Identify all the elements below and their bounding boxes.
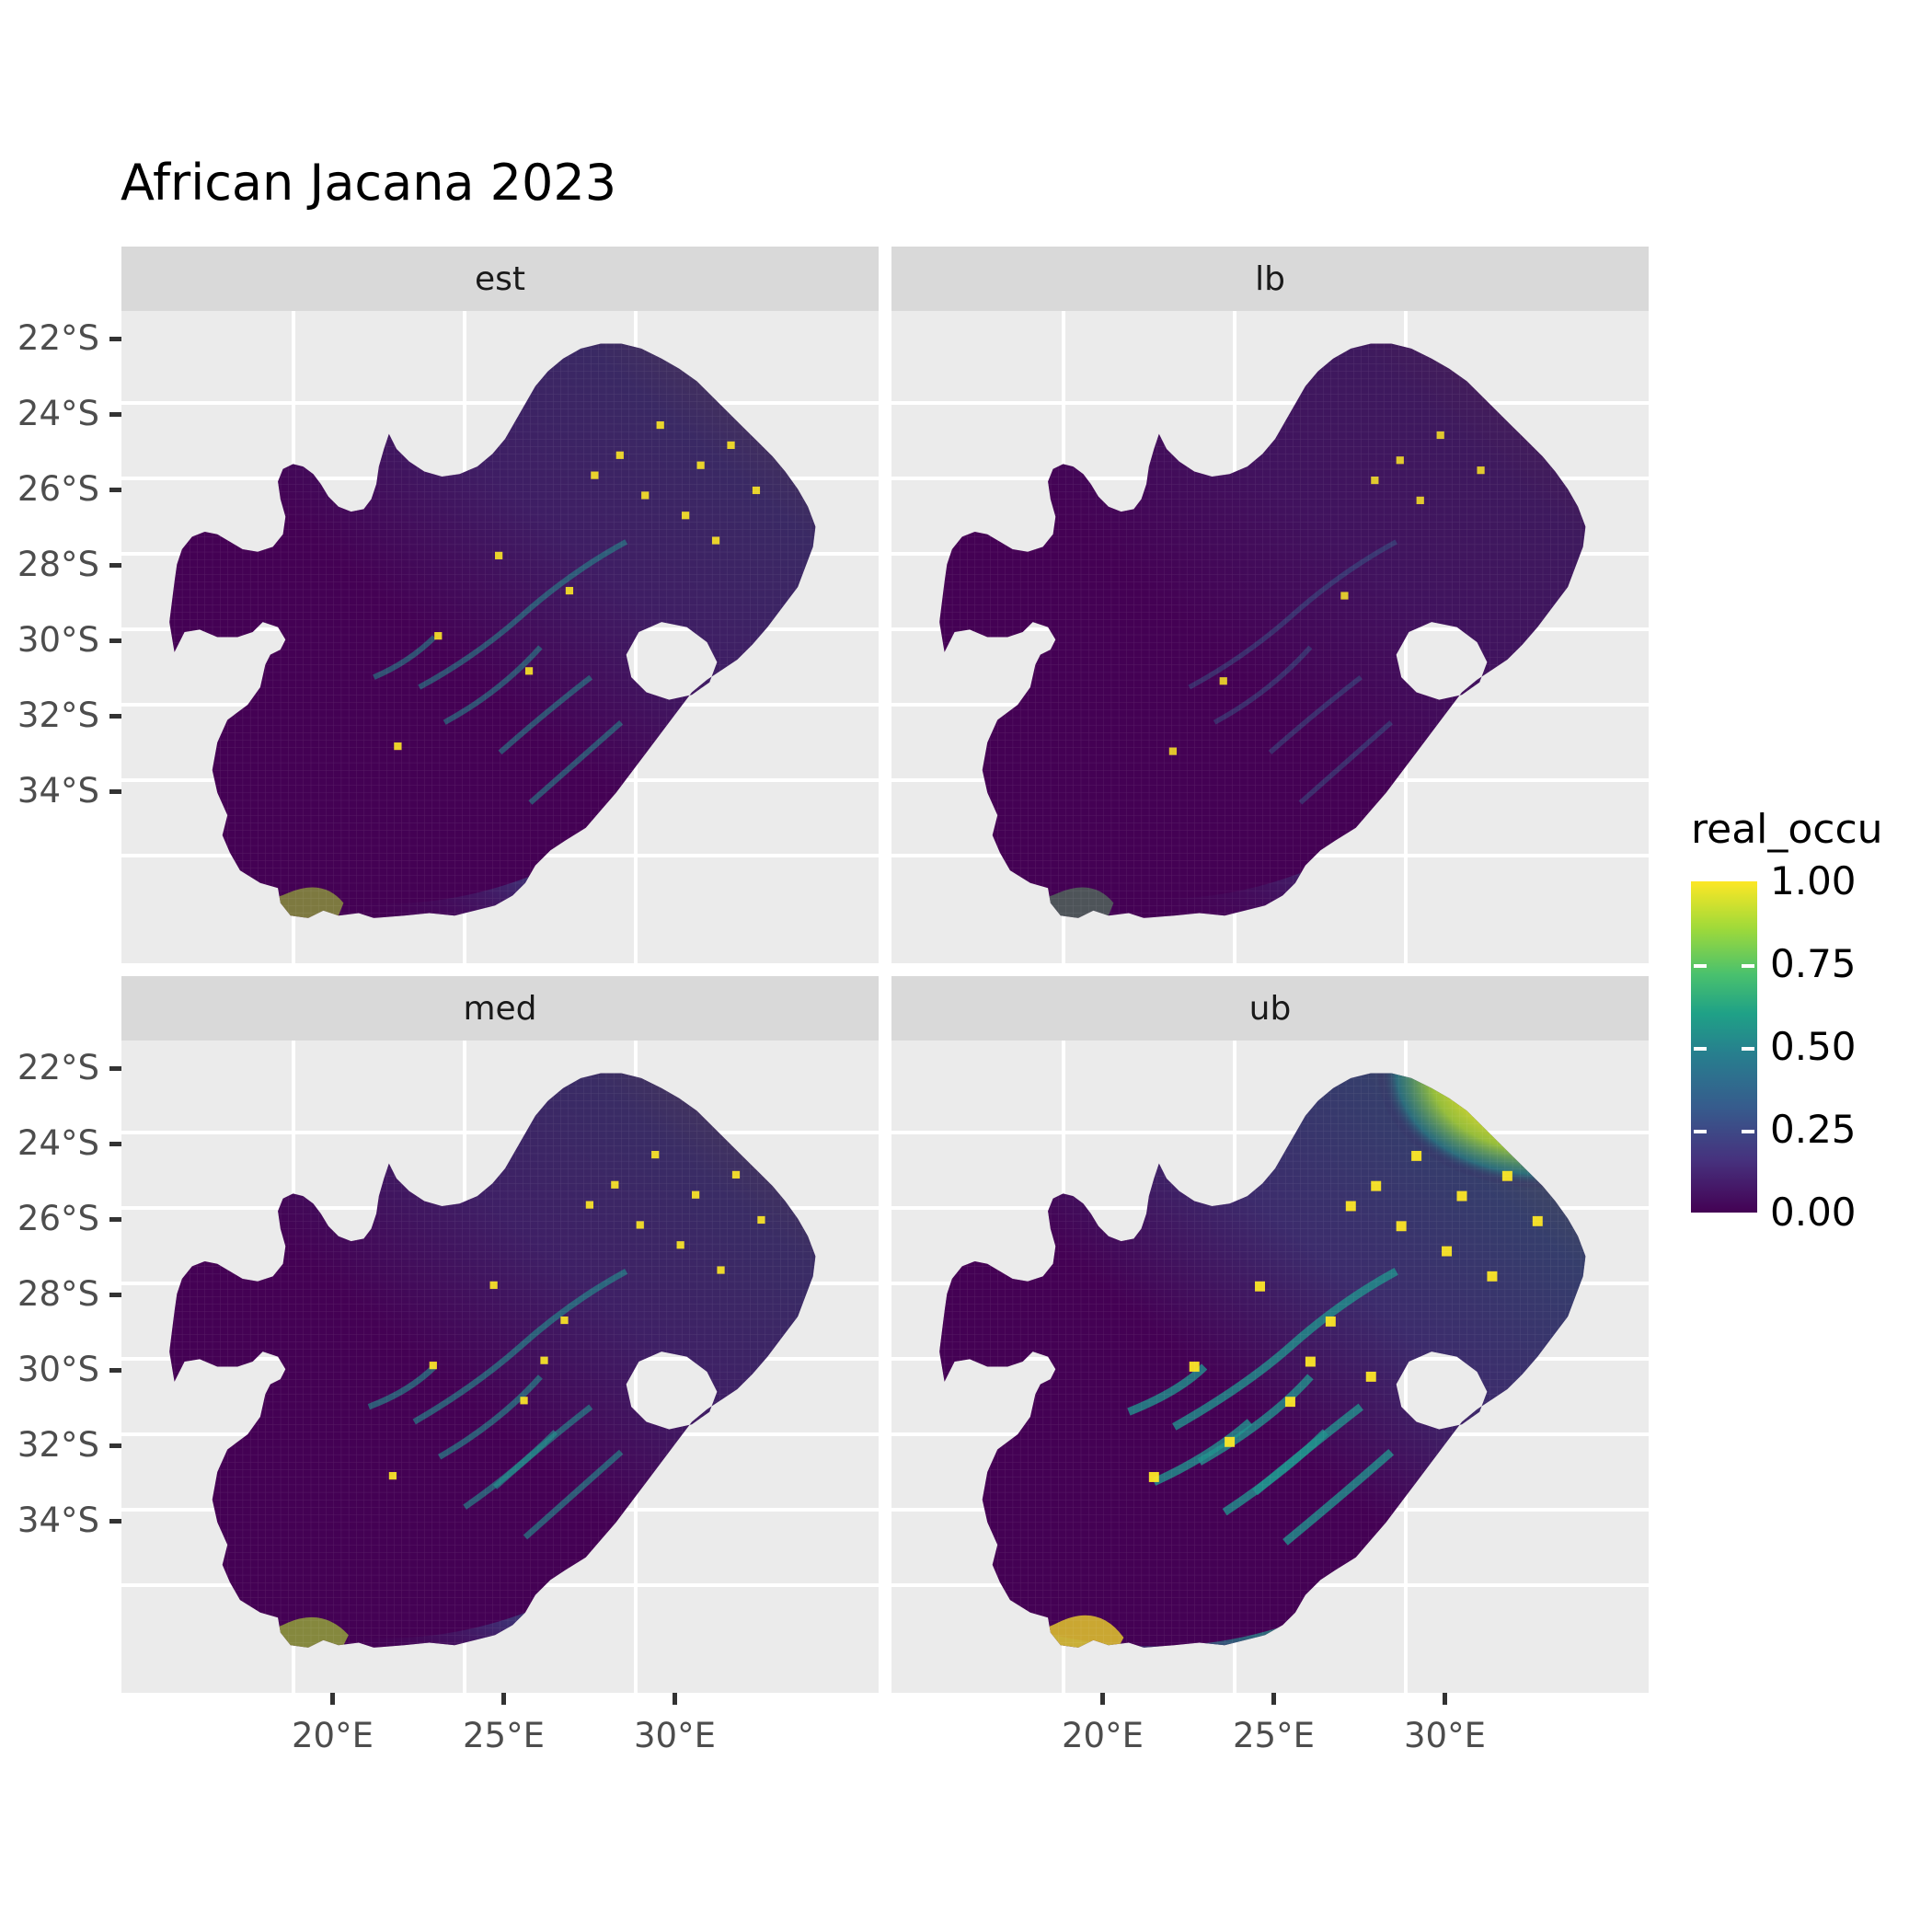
raster-layer-est <box>121 311 879 963</box>
legend-labels: 1.00 0.75 0.50 0.25 0.00 <box>1770 881 1932 1213</box>
occupancy-raster-lb <box>891 311 1649 963</box>
legend-tick-0.50-left <box>1694 1047 1707 1051</box>
x-tick-30E-col2: 30°E <box>1404 1693 1486 1755</box>
y-tick-label: 26°S <box>17 1199 99 1238</box>
y-tick-label: 22°S <box>17 318 99 358</box>
y-tick-label: 30°S <box>17 620 99 660</box>
x-tick-mark <box>501 1693 506 1705</box>
facet-strip-label: lb <box>1255 260 1285 298</box>
occupancy-raster-est <box>121 311 879 963</box>
x-tick-25E: 25°E <box>463 1693 545 1755</box>
map-panel-est <box>121 311 879 963</box>
occupancy-raster-ub <box>891 1041 1649 1693</box>
map-panel-ub <box>891 1041 1649 1693</box>
x-tick-mark <box>673 1693 677 1705</box>
x-tick-mark <box>1100 1693 1105 1705</box>
x-tick-mark <box>330 1693 335 1705</box>
facet-strip-label: est <box>475 260 525 298</box>
x-tick-20E-col2: 20°E <box>1062 1693 1144 1755</box>
y-tick-mark <box>109 488 121 492</box>
occupancy-raster-med <box>121 1041 879 1693</box>
y-tick-label: 22°S <box>17 1048 99 1087</box>
y-tick-mark <box>109 1519 121 1524</box>
legend-tick-0.25-right <box>1742 1130 1754 1133</box>
y-tick-mark <box>109 1142 121 1146</box>
x-tick-label: 25°E <box>463 1716 545 1755</box>
raster-layer-lb <box>891 311 1649 963</box>
y-tick-label: 24°S <box>17 394 99 433</box>
x-tick-30E: 30°E <box>634 1693 716 1755</box>
facet-med: med <box>121 976 879 1693</box>
facet-strip-est: est <box>121 247 879 311</box>
plot-root: African Jacana 2023 22°S 24°S 26°S 28°S … <box>0 0 1932 1932</box>
legend-label-0.00: 0.00 <box>1770 1193 1857 1232</box>
legend-tick-0.50-right <box>1742 1047 1754 1051</box>
y-tick-label: 28°S <box>17 1274 99 1314</box>
legend-label-0.50: 0.50 <box>1770 1028 1857 1066</box>
raster-layer-ub <box>891 1041 1649 1693</box>
legend-label-0.75: 0.75 <box>1770 945 1857 983</box>
y-tick-label: 32°S <box>17 696 99 735</box>
y-tick-mark <box>109 1293 121 1297</box>
y-tick-label: 26°S <box>17 469 99 509</box>
y-tick-label: 34°S <box>17 771 99 811</box>
facet-est: est <box>121 247 879 963</box>
y-tick-mark <box>109 337 121 341</box>
legend-colorbar-ticks <box>1691 881 1757 1213</box>
map-panel-med <box>121 1041 879 1693</box>
x-tick-mark <box>1443 1693 1447 1705</box>
x-tick-label: 30°E <box>634 1716 716 1755</box>
facet-strip-label: ub <box>1249 990 1292 1028</box>
facet-strip-ub: ub <box>891 976 1649 1041</box>
x-tick-label: 20°E <box>292 1716 374 1755</box>
x-tick-label: 30°E <box>1404 1716 1486 1755</box>
legend-tick-0.75-right <box>1742 964 1754 968</box>
y-tick-mark <box>109 412 121 417</box>
facet-strip-med: med <box>121 976 879 1041</box>
x-tick-mark <box>1271 1693 1276 1705</box>
legend-tick-0.75-left <box>1694 964 1707 968</box>
x-tick-25E-col2: 25°E <box>1233 1693 1315 1755</box>
y-tick-mark <box>109 1368 121 1373</box>
y-tick-mark <box>109 714 121 719</box>
y-tick-label: 32°S <box>17 1425 99 1465</box>
y-tick-label: 28°S <box>17 545 99 584</box>
y-tick-mark <box>109 563 121 568</box>
y-tick-mark <box>109 1443 121 1448</box>
legend-label-0.25: 0.25 <box>1770 1110 1857 1149</box>
y-tick-label: 30°S <box>17 1350 99 1389</box>
legend-title: real_occu <box>1691 810 1883 850</box>
y-tick-label: 34°S <box>17 1501 99 1540</box>
raster-layer-med <box>121 1041 879 1693</box>
y-tick-label: 24°S <box>17 1123 99 1163</box>
facet-ub: ub <box>891 976 1649 1693</box>
page-title: African Jacana 2023 <box>121 158 616 208</box>
x-tick-20E: 20°E <box>292 1693 374 1755</box>
y-tick-mark <box>109 789 121 794</box>
x-tick-label: 25°E <box>1233 1716 1315 1755</box>
y-axis: 22°S 24°S 26°S 28°S 30°S 32°S 34°S 22° <box>0 247 121 1693</box>
x-axis: 20°E 25°E 30°E 20°E 25°E 30°E <box>121 1693 1649 1803</box>
map-panel-lb <box>891 311 1649 963</box>
y-tick-mark <box>109 1217 121 1222</box>
x-tick-label: 20°E <box>1062 1716 1144 1755</box>
facet-lb: lb <box>891 247 1649 963</box>
facet-grid: est <box>121 247 1649 1693</box>
facet-strip-label: med <box>463 990 536 1028</box>
legend-tick-0.25-left <box>1694 1130 1707 1133</box>
facet-strip-lb: lb <box>891 247 1649 311</box>
y-tick-mark <box>109 1066 121 1071</box>
legend-label-1.00: 1.00 <box>1770 862 1857 901</box>
y-tick-mark <box>109 638 121 643</box>
